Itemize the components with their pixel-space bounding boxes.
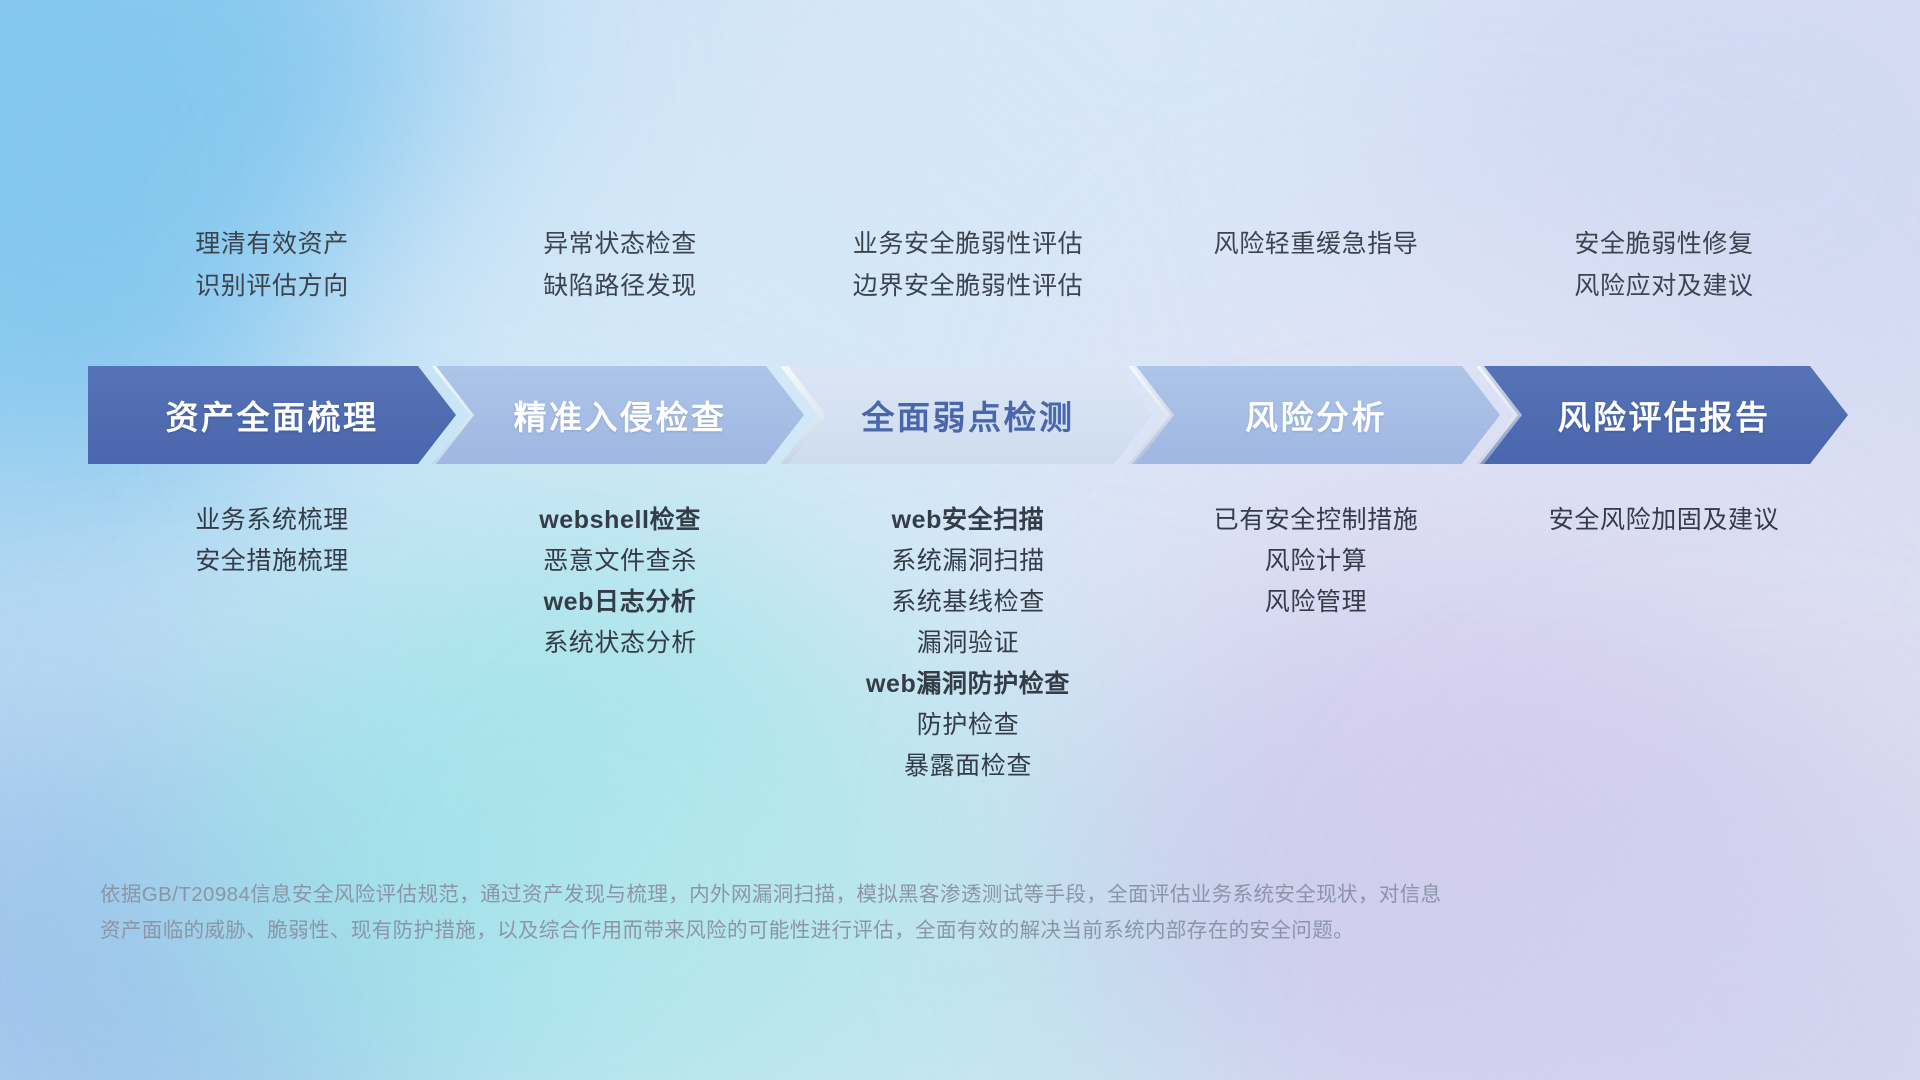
footer-description: 依据GB/T20984信息安全风险评估规范，通过资产发现与梳理，内外网漏洞扫描，…	[100, 877, 1630, 949]
top-note: 风险应对及建议	[1574, 274, 1753, 299]
detail-item: 系统漏洞扫描	[891, 549, 1045, 574]
detail-item: 系统状态分析	[543, 631, 697, 656]
stage-title: 全面弱点检测	[862, 391, 1075, 439]
detail-item: 风险管理	[1265, 590, 1367, 615]
top-note: 风险轻重缓急指导	[1214, 232, 1419, 257]
detail-item: 防护检查	[917, 713, 1019, 738]
top-note: 理清有效资产	[195, 232, 349, 257]
stage-5-top-notes: 安全脆弱性修复风险应对及建议	[1434, 232, 1894, 299]
detail-item: webshell检查	[539, 508, 701, 533]
detail-item: 安全风险加固及建议	[1549, 508, 1779, 533]
detail-item: web漏洞防护检查	[866, 672, 1070, 697]
detail-item: 业务系统梳理	[195, 508, 349, 533]
stage-chevron-1[interactable]: 资产全面梳理	[88, 366, 456, 464]
top-note: 异常状态检查	[543, 232, 697, 257]
stage-title: 风险评估报告	[1558, 391, 1771, 439]
stage-chevron-4[interactable]: 风险分析	[1132, 366, 1500, 464]
top-note: 识别评估方向	[195, 274, 349, 299]
detail-item: 漏洞验证	[917, 631, 1019, 656]
detail-item: web日志分析	[544, 590, 697, 615]
stage-chevron-3[interactable]: 全面弱点检测	[784, 366, 1152, 464]
detail-item: web安全扫描	[892, 508, 1045, 533]
stage-title: 资产全面梳理	[166, 391, 379, 439]
infographic: 理清有效资产识别评估方向异常状态检查缺陷路径发现业务安全脆弱性评估边界安全脆弱性…	[0, 0, 1920, 1080]
top-annotations-row: 理清有效资产识别评估方向异常状态检查缺陷路径发现业务安全脆弱性评估边界安全脆弱性…	[0, 232, 1920, 342]
footer-line-1: 依据GB/T20984信息安全风险评估规范，通过资产发现与梳理，内外网漏洞扫描，…	[100, 877, 1630, 913]
detail-item: 系统基线检查	[891, 590, 1045, 615]
top-note: 缺陷路径发现	[543, 274, 697, 299]
detail-item: 暴露面检查	[904, 754, 1032, 779]
detail-item: 恶意文件查杀	[543, 549, 697, 574]
stage-title: 精准入侵检查	[514, 391, 727, 439]
stage-chevron-2[interactable]: 精准入侵检查	[436, 366, 804, 464]
top-note: 安全脆弱性修复	[1574, 232, 1753, 257]
footer-line-2: 资产面临的威胁、脆弱性、现有防护措施，以及综合作用而带来风险的可能性进行评估，全…	[100, 913, 1630, 949]
detail-item: 安全措施梳理	[195, 549, 349, 574]
detail-item: 风险计算	[1265, 549, 1367, 574]
stage-title: 风险分析	[1245, 391, 1387, 439]
top-note: 业务安全脆弱性评估	[853, 232, 1083, 257]
stage-chevron-5[interactable]: 风险评估报告	[1480, 366, 1848, 464]
stage-details-row: 业务系统梳理安全措施梳理webshell检查恶意文件查杀web日志分析系统状态分…	[0, 508, 1920, 838]
stage-5-details: 安全风险加固及建议	[1434, 508, 1894, 533]
top-note: 边界安全脆弱性评估	[853, 274, 1083, 299]
process-chevron-banner: 资产全面梳理精准入侵检查全面弱点检测风险分析风险评估报告	[88, 366, 1848, 464]
detail-item: 已有安全控制措施	[1214, 508, 1419, 533]
